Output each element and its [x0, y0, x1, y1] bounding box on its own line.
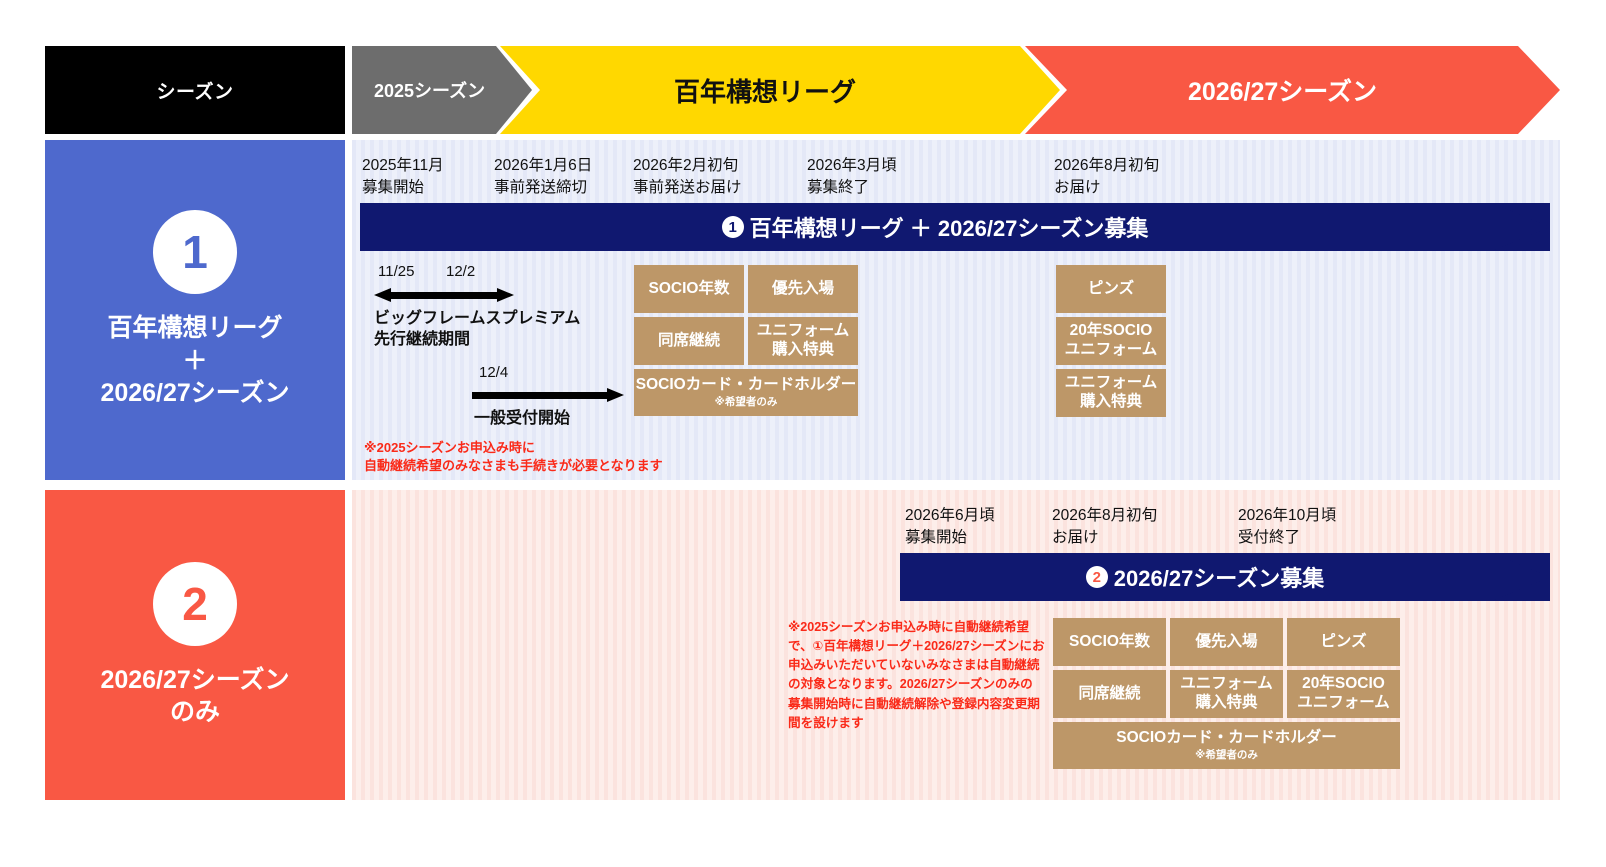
header-phase-2025-season: 2025シーズン: [352, 46, 532, 134]
row-1-label-panel: 1 百年構想リーグ ＋ 2026/27シーズン: [45, 140, 345, 480]
benefit-label: ユニフォーム 購入特典: [1180, 675, 1273, 713]
header-phase-2026-27-season: 2026/27シーズン: [1025, 46, 1560, 134]
row-1-benefit-pins: ピンズ: [1056, 265, 1166, 313]
benefit-label: SOCIOカード・カードホルダー: [636, 376, 856, 395]
row-1-number-badge: 1: [153, 210, 237, 294]
benefit-label: 20年SOCIO ユニフォーム: [1065, 322, 1158, 360]
row-1-date-0: 2025年11月 募集開始: [362, 155, 444, 199]
row-2-number-badge: 2: [153, 562, 237, 646]
row-2-benefit-priority-entry: 優先入場: [1170, 618, 1283, 666]
row-1-general-date: 12/4: [479, 364, 508, 381]
row-2-benefit-uniform-purchase: ユニフォーム 購入特典: [1170, 670, 1283, 718]
row-2-date-2: 2026年10月頃 受付終了: [1238, 505, 1336, 549]
row-1-arrow-label: 百年構想リーグ ＋ 2026/27シーズン募集: [750, 211, 1149, 243]
row-1-premium-period-arrow-icon: [374, 288, 514, 302]
row-1-general-caption: 一般受付開始: [474, 408, 570, 429]
row-2-title: 2026/27シーズン のみ: [100, 664, 289, 729]
row-2-benefit-socio-years: SOCIO年数: [1053, 618, 1166, 666]
benefit-label: ユニフォーム 購入特典: [1065, 374, 1158, 412]
arrow-head-icon: [1492, 553, 1550, 601]
row-1-benefit-socio-card: SOCIOカード・カードホルダー ※希望者のみ: [634, 369, 858, 416]
row-1-benefit-priority-entry: 優先入場: [748, 265, 858, 313]
row-2-date-1: 2026年8月初旬 お届け: [1052, 505, 1157, 549]
row-2-note: ※2025シーズンお申込み時に自動継続希望で、①百年構想リーグ＋2026/27シ…: [788, 618, 1045, 733]
row-1-benefit-socio-years: SOCIO年数: [634, 265, 744, 313]
benefit-label: 同席継続: [658, 332, 720, 351]
benefit-label: 優先入場: [772, 280, 834, 299]
row-2-campaign-arrow: 2 2026/27シーズン募集: [900, 553, 1550, 601]
row-1-premium-start-date: 11/25: [378, 263, 414, 280]
header-phase-label: 2025シーズン: [374, 77, 485, 103]
header-phase-label: 百年構想リーグ: [674, 72, 856, 109]
row-2-benefit-same-seat: 同席継続: [1053, 670, 1166, 718]
row-1-body: 2025年11月 募集開始 2026年1月6日 事前発送締切 2026年2月初旬…: [352, 140, 1560, 480]
timeline-diagram: シーズン 2025シーズン 百年構想リーグ 2026/27シーズン 1 百年構想…: [0, 0, 1606, 867]
row-2-body: 2026年6月頃 募集開始 2026年8月初旬 お届け 2026年10月頃 受付…: [352, 490, 1560, 800]
row-2-benefit-20yr-uniform: 20年SOCIO ユニフォーム: [1287, 670, 1400, 718]
row-1-benefit-20yr-uniform: 20年SOCIO ユニフォーム: [1056, 317, 1166, 365]
row-1-general-arrow-icon: [472, 388, 624, 402]
row-1-title: 百年構想リーグ ＋ 2026/27シーズン: [100, 312, 289, 410]
header-phase-hyakunen-league: 百年構想リーグ: [500, 46, 1060, 134]
header-phase-label: 2026/27シーズン: [1188, 72, 1377, 108]
row-1-premium-end-date: 12/2: [446, 263, 475, 280]
row-1-note: ※2025シーズンお申込み時に 自動継続希望のみなさまも手続きが必要となります: [364, 439, 663, 476]
row-1-arrow-number-badge: 1: [722, 216, 744, 238]
benefit-label: 優先入場: [1195, 633, 1257, 652]
row-1-benefit-uniform-purchase-2: ユニフォーム 購入特典: [1056, 369, 1166, 417]
row-1-date-4: 2026年8月初旬 お届け: [1054, 155, 1159, 199]
row-2-label-panel: 2 2026/27シーズン のみ: [45, 490, 345, 800]
benefit-label: ピンズ: [1320, 633, 1366, 652]
row-2-benefit-socio-card: SOCIOカード・カードホルダー ※希望者のみ: [1053, 722, 1400, 769]
benefit-sublabel: ※希望者のみ: [1195, 749, 1258, 762]
benefit-label: 同席継続: [1078, 685, 1140, 704]
row-1-arrow-label-group: 1 百年構想リーグ ＋ 2026/27シーズン募集: [722, 211, 1189, 243]
row-1-date-1: 2026年1月6日 事前発送締切: [494, 155, 592, 199]
row-2-benefit-pins: ピンズ: [1287, 618, 1400, 666]
row-2-arrow-label-group: 2 2026/27シーズン募集: [1086, 561, 1364, 593]
benefit-label: 20年SOCIO ユニフォーム: [1297, 675, 1390, 713]
benefit-sublabel: ※希望者のみ: [715, 396, 778, 409]
row-1-premium-caption: ビッグフレームスプレミアム 先行継続期間: [374, 308, 580, 350]
row-1-campaign-arrow: 1 百年構想リーグ ＋ 2026/27シーズン募集: [360, 203, 1550, 251]
row-1-benefit-uniform-purchase: ユニフォーム 購入特典: [748, 317, 858, 365]
row-1-benefit-same-seat: 同席継続: [634, 317, 744, 365]
row-1-date-2: 2026年2月初旬 事前発送お届け: [633, 155, 742, 199]
row-2-arrow-number-badge: 2: [1086, 566, 1108, 588]
row-2-arrow-label: 2026/27シーズン募集: [1114, 561, 1324, 593]
benefit-label: ピンズ: [1088, 280, 1134, 299]
benefit-label: SOCIO年数: [649, 280, 730, 299]
benefit-label: SOCIO年数: [1069, 633, 1150, 652]
row-1-date-3: 2026年3月頃 募集終了: [807, 155, 897, 199]
benefit-label: ユニフォーム 購入特典: [757, 322, 850, 360]
arrow-head-icon: [1492, 203, 1550, 251]
benefit-label: SOCIOカード・カードホルダー: [1116, 729, 1336, 748]
row-2-date-0: 2026年6月頃 募集開始: [905, 505, 995, 549]
header-season-label: シーズン: [45, 46, 345, 134]
